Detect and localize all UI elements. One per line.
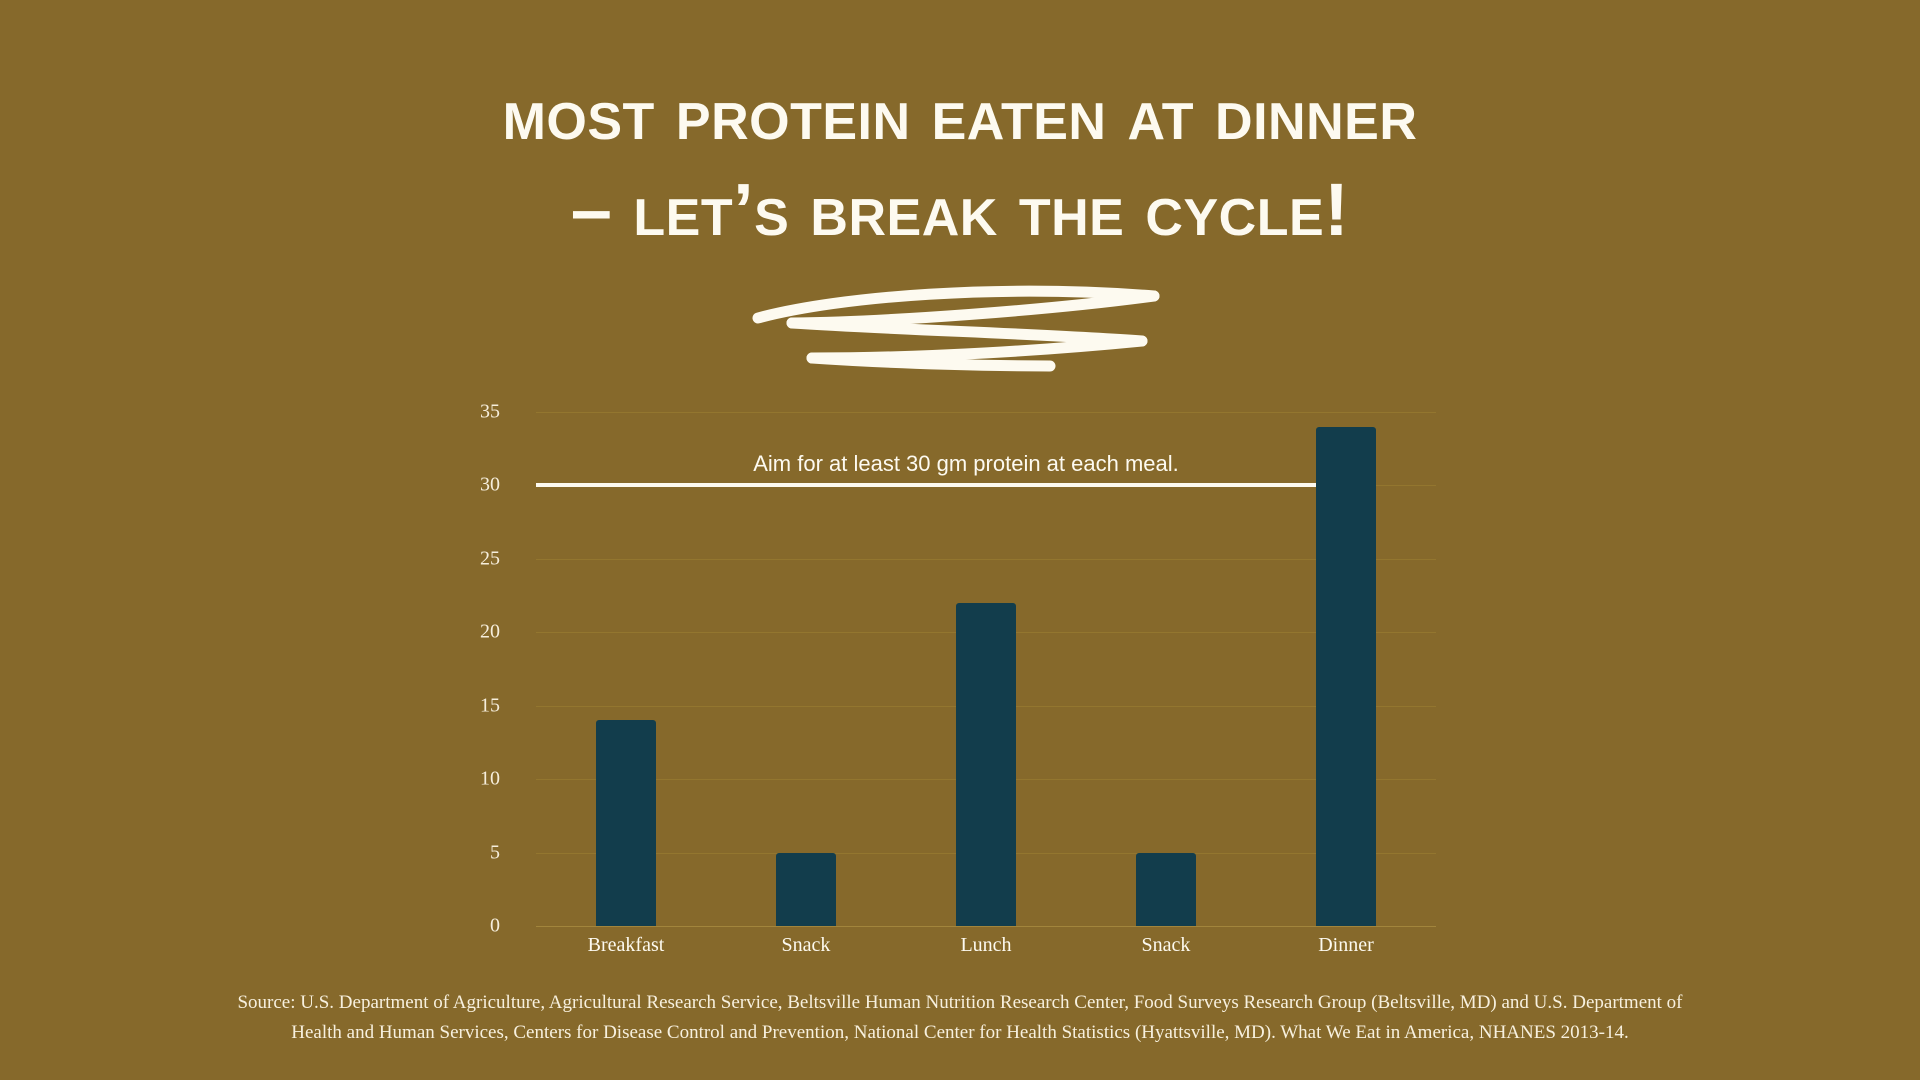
- title-line-1: Most Protein Eaten at Dinner: [0, 66, 1920, 162]
- y-axis-tick-label: 25: [440, 547, 500, 570]
- y-axis-labels: 05101520253035: [440, 412, 500, 926]
- y-axis-tick-label: 15: [440, 694, 500, 717]
- x-axis-tick-label: Dinner: [1256, 934, 1436, 957]
- source-note: Source: U.S. Department of Agriculture, …: [0, 988, 1920, 1048]
- gridline-35: [536, 412, 1436, 413]
- x-axis-tick-label: Breakfast: [536, 934, 716, 957]
- x-axis-tick-label: Snack: [716, 934, 896, 957]
- y-axis-tick-label: 10: [440, 768, 500, 791]
- zigzag-scribble-icon: [750, 278, 1170, 373]
- gridline-0: [536, 926, 1436, 927]
- bar-snack-1: [776, 853, 836, 926]
- plot-area: BreakfastSnackLunchSnackDinnerAim for at…: [536, 412, 1406, 926]
- bar-dinner-4: [1316, 427, 1376, 926]
- y-axis-tick-label: 35: [440, 401, 500, 424]
- y-axis-tick-label: 30: [440, 474, 500, 497]
- title-line-2: – Let’s Break the Cycle!: [0, 162, 1920, 258]
- bar-snack-3: [1136, 853, 1196, 926]
- y-axis-tick-label: 5: [440, 841, 500, 864]
- gridline-25: [536, 559, 1436, 560]
- target-annotation-label: Aim for at least 30 gm protein at each m…: [616, 451, 1316, 477]
- bar-chart: 05101520253035 BreakfastSnackLunchSnackD…: [506, 406, 1406, 926]
- y-axis-tick-label: 20: [440, 621, 500, 644]
- target-reference-line: [536, 483, 1316, 487]
- y-axis-tick-label: 0: [440, 915, 500, 938]
- x-axis-tick-label: Snack: [1076, 934, 1256, 957]
- bar-breakfast-0: [596, 720, 656, 926]
- bar-lunch-2: [956, 603, 1016, 926]
- page-title: Most Protein Eaten at Dinner – Let’s Bre…: [0, 66, 1920, 258]
- slide-canvas: Most Protein Eaten at Dinner – Let’s Bre…: [0, 0, 1920, 1080]
- x-axis-tick-label: Lunch: [896, 934, 1076, 957]
